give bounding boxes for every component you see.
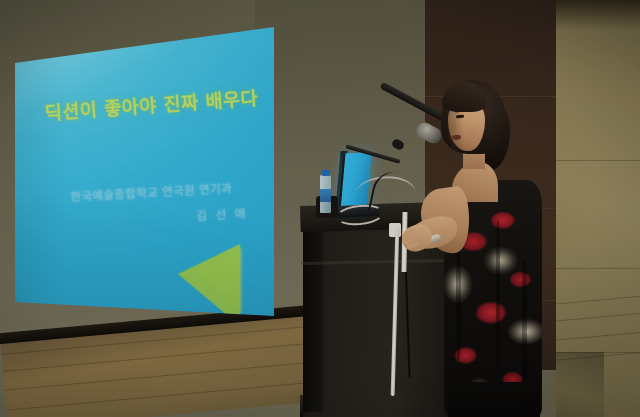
slide-subtitle-name: 김 선 애 [196, 205, 248, 224]
speaker-nose [450, 123, 456, 130]
lecture-photo: 딕션이 좋아야 진짜 배우다 한국예술종합학교 연극원 연기과 김 선 애 [0, 0, 640, 417]
water-bottle-label [320, 189, 331, 202]
speaker-person [400, 70, 580, 417]
wood-panel-shadow [556, 0, 640, 30]
slide-title: 딕션이 좋아야 진짜 배우다 [44, 84, 275, 126]
water-bottle-cap [322, 170, 330, 176]
podium-side-face [303, 212, 323, 412]
slide-subtitle-organization: 한국예술종합학교 연극원 연기과 [70, 177, 291, 205]
speaker-hair-fringe [442, 82, 486, 112]
speaker-skirt-lower [448, 382, 540, 417]
